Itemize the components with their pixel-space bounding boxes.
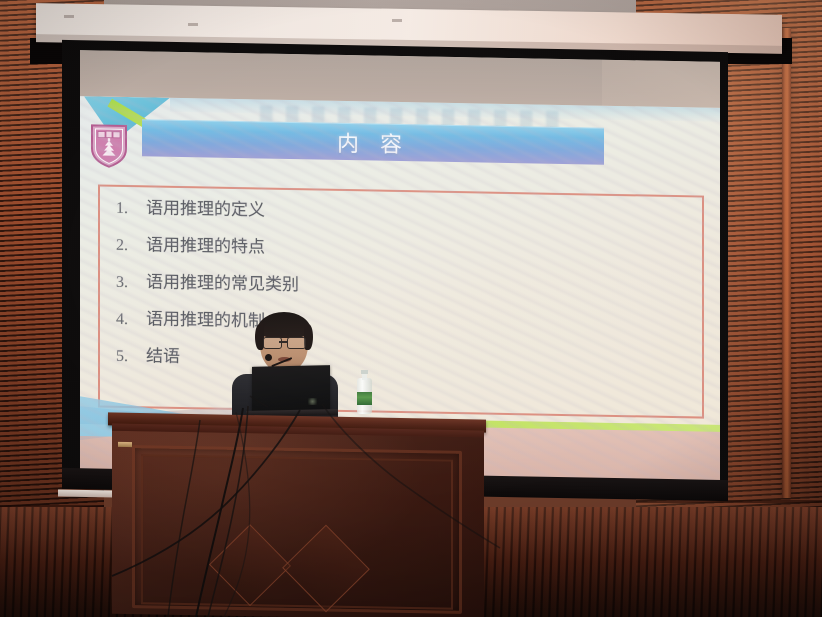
list-item-label: 结语 (146, 341, 180, 367)
podium (112, 431, 484, 617)
microphone-icon (265, 354, 272, 361)
podium-inner-panel (141, 454, 453, 609)
laptop (252, 365, 330, 413)
slide-title-bar: 内 容 (142, 119, 604, 164)
valance-scuff (392, 19, 402, 22)
valance-scuff (188, 23, 198, 26)
wall-vertical-post (782, 28, 791, 498)
wall-horizontal-seam (636, 500, 822, 503)
list-item-number: 5. (116, 348, 146, 367)
valance-scuff (64, 15, 74, 18)
list-item-number: 1. (116, 200, 146, 219)
podium-diamond-ornament (282, 525, 370, 613)
water-bottle-cap (361, 370, 368, 374)
list-item-label: 语用推理的定义 (146, 193, 265, 220)
water-bottle (357, 370, 372, 414)
podium-diamond-ornament (209, 524, 291, 606)
podium-nameplate (118, 442, 132, 447)
water-bottle-label (357, 392, 372, 405)
university-crest (89, 122, 129, 169)
list-item: 2. 语用推理的特点 (116, 230, 516, 262)
list-item-label: 语用推理的特点 (146, 230, 265, 257)
list-item-number: 4. (116, 311, 146, 330)
list-item: 3. 语用推理的常见类别 (116, 267, 516, 299)
glasses-left-lens (263, 337, 282, 349)
glasses-bridge (279, 341, 288, 343)
laptop-logo (308, 398, 317, 405)
list-item-label: 语用推理的常见类别 (146, 267, 299, 295)
glasses-right-lens (287, 337, 306, 349)
presenter-hair (257, 312, 311, 338)
list-item-number: 2. (116, 237, 146, 256)
slide-title: 内 容 (337, 125, 409, 158)
list-item-number: 3. (116, 274, 146, 293)
lecture-hall-photo: 内 容 1. 语用推理的定义 2. 语用推理的特点 3. 语用推理的常见类别 (0, 0, 822, 617)
